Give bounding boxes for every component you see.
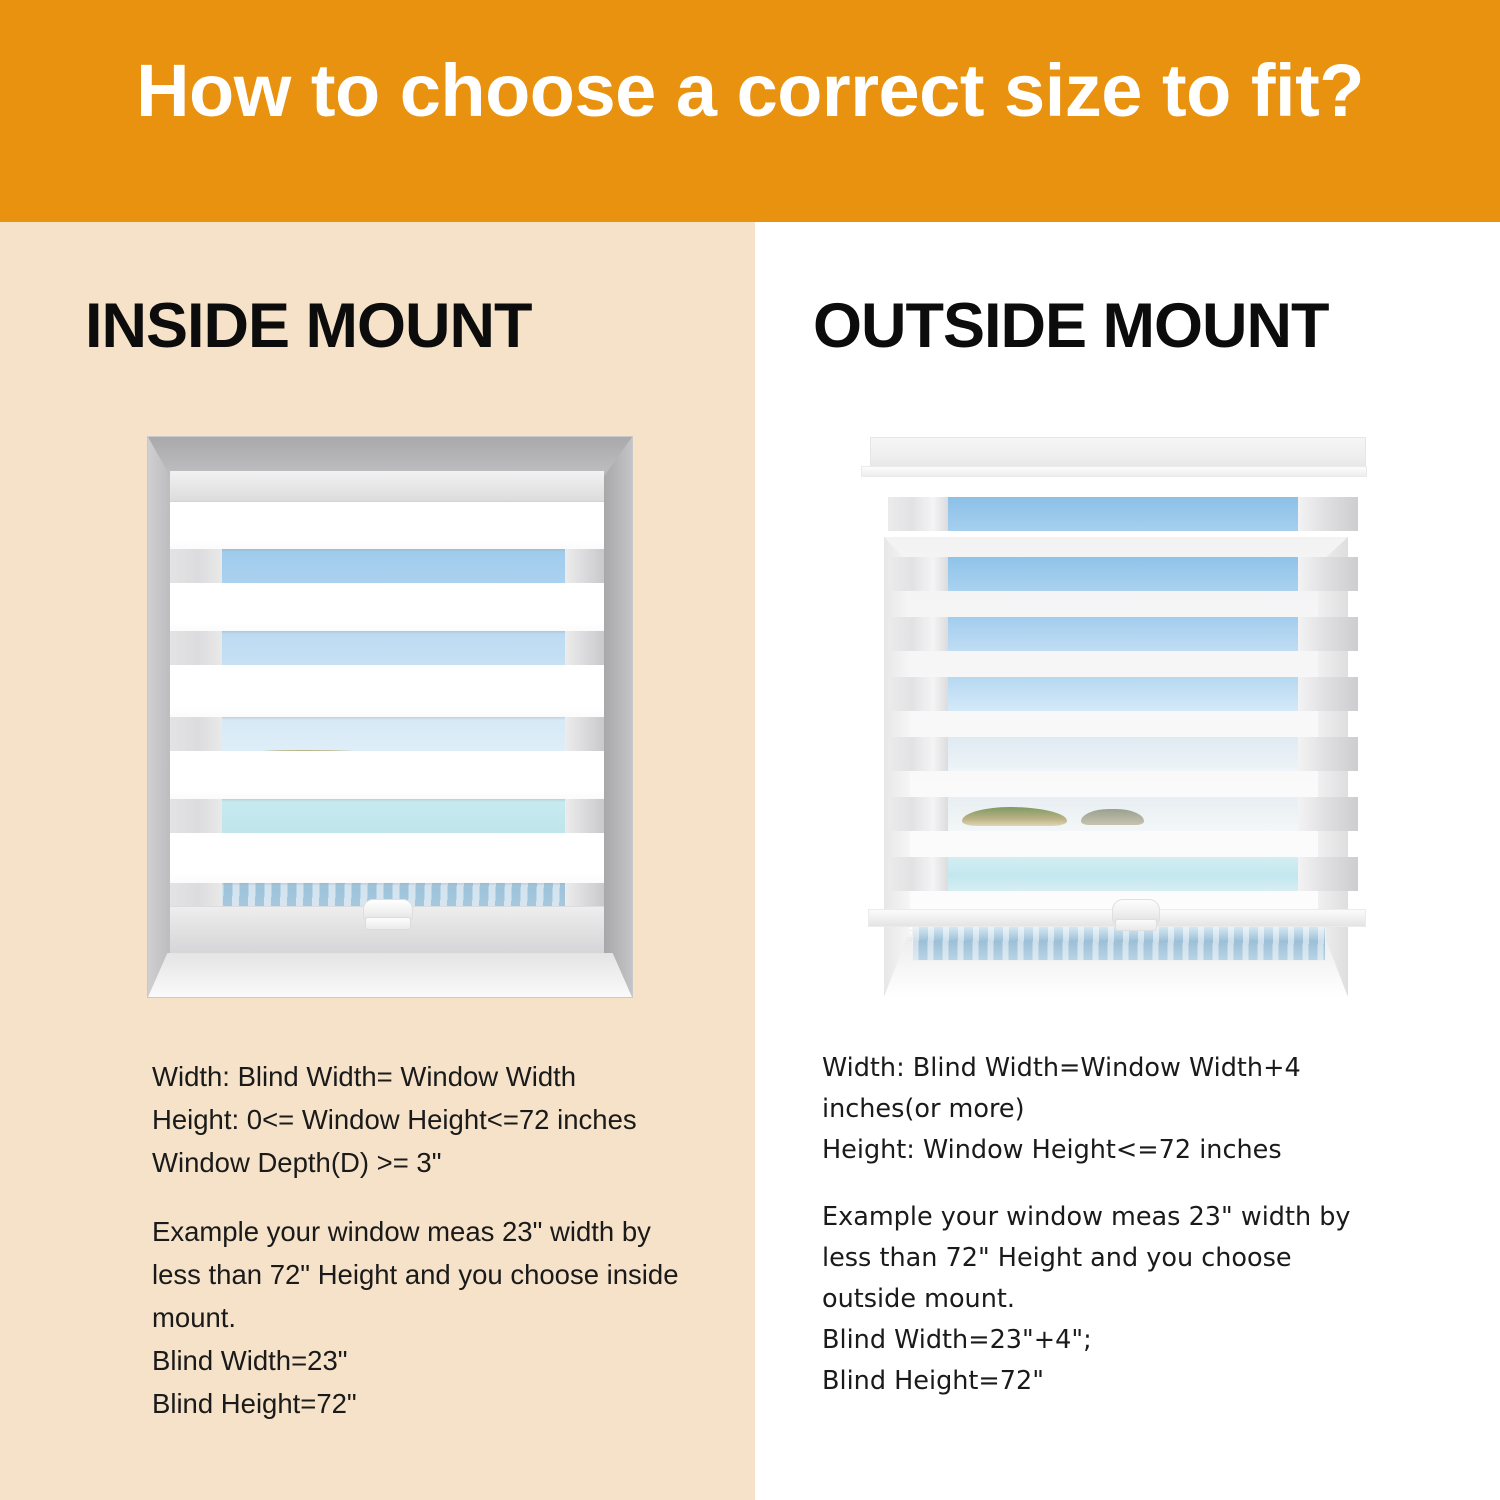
sky	[170, 501, 604, 763]
far-sea	[170, 763, 604, 844]
blind-open-stripe	[888, 677, 1358, 711]
outside-spec-line: Width: Blind Width=Window Width+4	[822, 1048, 1402, 1089]
zebra-blind-outside	[860, 437, 1372, 937]
sky-segment	[948, 497, 1298, 531]
infographic-page: How to choose a correct size to fit? INS…	[0, 0, 1500, 1500]
inside-example-line: less than 72" Height and you choose insi…	[152, 1253, 712, 1296]
stripe-cap-left	[888, 797, 948, 831]
header-banner: How to choose a correct size to fit?	[0, 0, 1500, 222]
spacer	[822, 1171, 1402, 1197]
outside-mount-copy: Width: Blind Width=Window Width+4 inches…	[822, 1048, 1402, 1402]
inside-example-line: Example your window meas 23" width by	[152, 1210, 712, 1253]
window-opening-inside	[170, 471, 604, 953]
sky-segment	[948, 557, 1298, 591]
stripe-cap-right	[1298, 737, 1358, 771]
inside-spec-line: Width: Blind Width= Window Width	[152, 1055, 712, 1098]
island-rock	[1081, 809, 1144, 824]
stripe-cap-right	[1298, 557, 1358, 591]
blind-open-stripe	[888, 557, 1358, 591]
stripe-cap-right	[1298, 497, 1358, 531]
blind-open-stripe	[888, 497, 1358, 531]
handle-plate	[365, 917, 411, 930]
stripe-cap-right	[1298, 677, 1358, 711]
stripe-view-window	[948, 857, 1298, 891]
sky-segment	[948, 617, 1298, 651]
stripe-view-window	[948, 677, 1298, 711]
blind-open-stripe	[888, 737, 1358, 771]
stripe-cap-left	[888, 737, 948, 771]
stripe-cap-right	[1298, 857, 1358, 891]
outside-spec-line: inches(or more)	[822, 1089, 1402, 1130]
zebra-blind-stripes	[888, 483, 1358, 903]
stripe-cap-right	[1298, 617, 1358, 651]
outside-example-line: less than 72" Height and you choose	[822, 1238, 1402, 1279]
outside-mount-heading: OUTSIDE MOUNT	[813, 295, 1329, 358]
stripe-cap-right	[1298, 797, 1358, 831]
outdoor-view-scene	[170, 501, 604, 953]
blind-headrail	[170, 471, 604, 502]
horizon-segment	[948, 737, 1298, 771]
stripe-view-window	[948, 797, 1298, 831]
inside-mount-window-illustration	[148, 437, 632, 997]
stripe-view-window	[948, 617, 1298, 651]
outside-example-line: Example your window meas 23" width by	[822, 1197, 1402, 1238]
stripe-cap-left	[888, 857, 948, 891]
window-sill	[148, 953, 632, 997]
spacer	[152, 1184, 712, 1210]
inside-spec-line: Height: 0<= Window Height<=72 inches	[152, 1098, 712, 1141]
blind-pull-handle[interactable]	[1112, 899, 1158, 933]
inside-example-line: Blind Width=23"	[152, 1339, 712, 1382]
stripe-cap-left	[888, 617, 948, 651]
stripe-cap-left	[888, 497, 948, 531]
outside-spec-line: Height: Window Height<=72 inches	[822, 1130, 1402, 1171]
page-title: How to choose a correct size to fit?	[0, 54, 1500, 128]
handle-plate	[1115, 919, 1157, 931]
outside-example-line: outside mount.	[822, 1279, 1402, 1320]
recess-left-face	[148, 437, 170, 997]
stripe-cap-left	[888, 557, 948, 591]
stripe-view-window	[948, 737, 1298, 771]
sky-segment	[948, 677, 1298, 711]
sea-segment	[948, 857, 1298, 891]
recess-right-face	[604, 437, 632, 997]
blind-pull-handle[interactable]	[363, 899, 411, 933]
inside-example-line: mount.	[152, 1296, 712, 1339]
inside-mount-copy: Width: Blind Width= Window Width Height:…	[152, 1055, 712, 1425]
stripe-view-window	[948, 497, 1298, 531]
stripe-view-window	[948, 557, 1298, 591]
blind-headrail	[870, 437, 1366, 473]
blind-open-stripe	[888, 857, 1358, 891]
inside-spec-line: Window Depth(D) >= 3"	[152, 1141, 712, 1184]
recess-top-face	[148, 437, 632, 471]
stripe-cap-left	[888, 677, 948, 711]
inside-mount-heading: INSIDE MOUNT	[85, 295, 532, 358]
blind-open-stripe	[888, 617, 1358, 651]
outside-mount-window-illustration	[860, 437, 1372, 997]
blind-open-stripe	[888, 797, 1358, 831]
outside-example-line: Blind Height=72"	[822, 1361, 1402, 1402]
outside-example-line: Blind Width=23"+4";	[822, 1320, 1402, 1361]
inside-example-line: Blind Height=72"	[152, 1382, 712, 1425]
